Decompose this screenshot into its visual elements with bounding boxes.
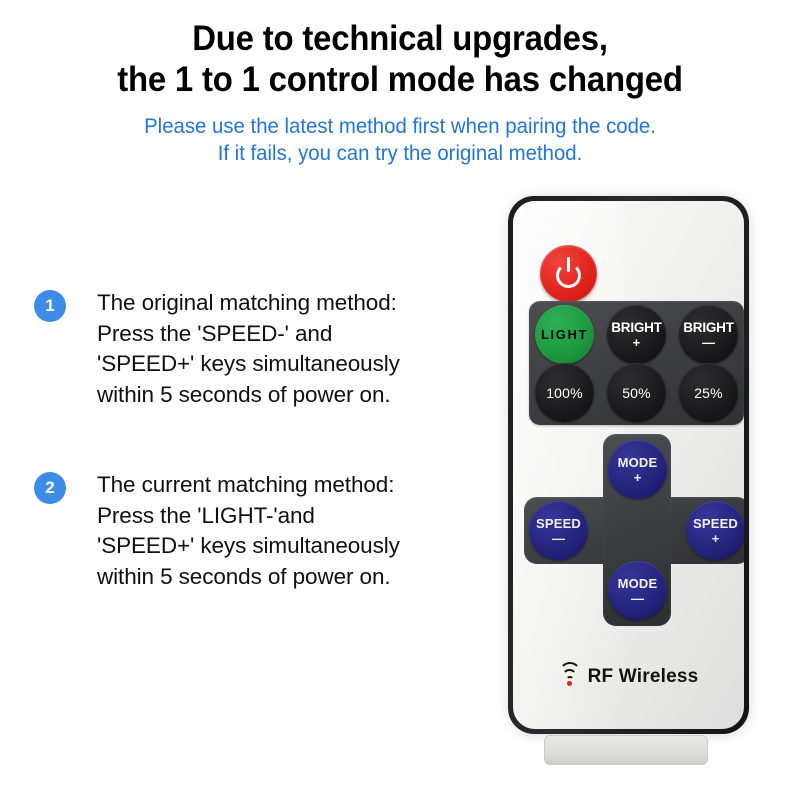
step-number-badge-1: 1 — [34, 290, 66, 322]
page-subtitle: Please use the latest method first when … — [0, 113, 800, 167]
instruction-list: 1 The original matching method: Press th… — [34, 288, 484, 652]
page-subtitle-line-1: Please use the latest method first when … — [12, 113, 788, 140]
power-button[interactable] — [540, 245, 597, 302]
page-title: Due to technical upgrades, the 1 to 1 co… — [0, 18, 800, 100]
brightness-100-button[interactable]: 100% — [535, 363, 594, 422]
list-item: 1 The original matching method: Press th… — [34, 288, 484, 410]
light-button[interactable]: LIGHT — [535, 305, 594, 364]
step-number-badge-2: 2 — [34, 472, 66, 504]
brightness-50-button[interactable]: 50% — [607, 363, 666, 422]
rf-wireless-label: RF Wireless — [588, 666, 699, 688]
mode-down-button[interactable]: MODE — — [608, 561, 667, 620]
keypad-panel: LIGHT BRIGHT + BRIGHT — 100% 50% 25 — [529, 301, 744, 425]
step-text-2: The current matching method: Press the '… — [97, 470, 400, 592]
remote-body: LIGHT BRIGHT + BRIGHT — 100% 50% 25 — [508, 196, 749, 734]
rf-wireless-mark: RF Wireless — [513, 666, 744, 688]
list-item: 2 The current matching method: Press the… — [34, 470, 484, 592]
speed-down-button[interactable]: SPEED — — [529, 501, 588, 560]
bright-down-button[interactable]: BRIGHT — — [679, 305, 738, 364]
mode-up-button[interactable]: MODE + — [608, 440, 667, 499]
speed-up-button[interactable]: SPEED + — [686, 501, 744, 560]
wifi-icon — [559, 668, 581, 686]
step-text-1: The original matching method: Press the … — [97, 288, 400, 410]
remote-control: LIGHT BRIGHT + BRIGHT — 100% 50% 25 — [502, 190, 754, 770]
page-title-line-1: Due to technical upgrades, — [24, 18, 776, 59]
brightness-25-button[interactable]: 25% — [679, 363, 738, 422]
dpad: MODE + SPEED — SPEED + MODE — — [524, 434, 744, 626]
bright-up-button[interactable]: BRIGHT + — [607, 305, 666, 364]
page-title-line-2: the 1 to 1 control mode has changed — [24, 59, 776, 100]
remote-stand — [544, 735, 708, 765]
remote-faceplate: LIGHT BRIGHT + BRIGHT — 100% 50% 25 — [513, 201, 744, 729]
page-subtitle-line-2: If it fails, you can try the original me… — [12, 140, 788, 167]
power-icon — [554, 259, 583, 288]
